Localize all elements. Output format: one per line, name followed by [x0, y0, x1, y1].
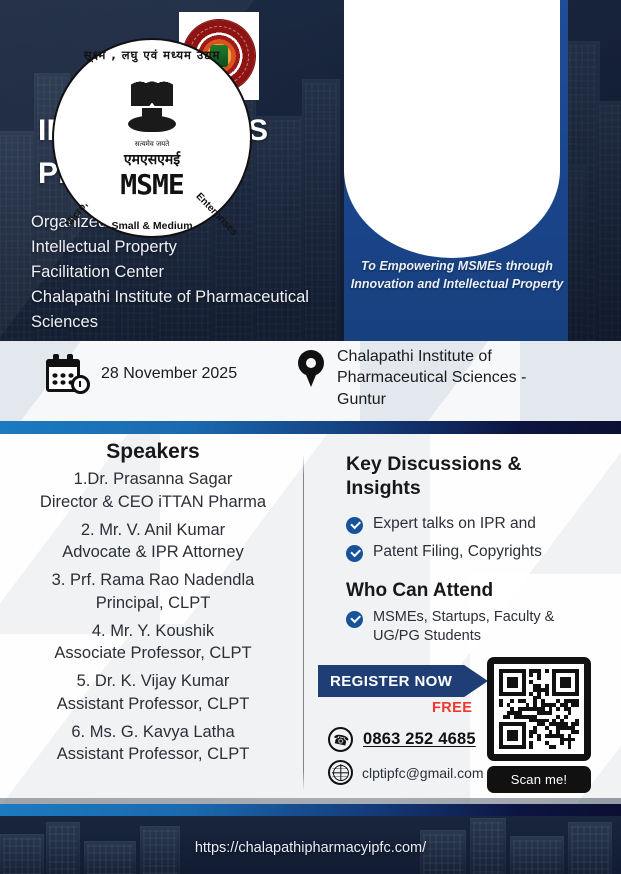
speaker-name: 3. Prf. Rama Rao Nadendla — [8, 569, 298, 592]
list-item: Patent Filing, Copyrights — [346, 542, 596, 562]
location-pin-icon — [296, 350, 326, 390]
speaker-name: 5. Dr. K. Vijay Kumar — [8, 670, 298, 693]
who-can-attend-heading: Who Can Attend — [346, 580, 576, 602]
section-divider-top — [0, 421, 621, 434]
footer-banner: https://chalapathipharmacyipfc.com/ — [0, 816, 621, 874]
speaker-item: 3. Prf. Rama Rao Nadendla Principal, CLP… — [8, 569, 298, 615]
speaker-item: 1.Dr. Prasanna Sagar Director & CEO iTTA… — [8, 468, 298, 514]
phone-icon: ☎ — [328, 727, 353, 752]
msme-tagline: To Empowering MSMEs through Innovation a… — [348, 258, 566, 294]
website-url[interactable]: https://chalapathipharmacyipfc.com/ — [0, 840, 621, 856]
msme-logo: सूक्ष्म , लघु एवं मध्यम उद्यम सत्यमेव जय… — [52, 38, 252, 238]
speaker-item: 6. Ms. G. Kavya Latha Assistant Professo… — [8, 721, 298, 767]
msme-hindi-top: सूक्ष्म , लघु एवं मध्यम उद्यम — [54, 48, 250, 63]
check-circle-icon — [346, 611, 363, 628]
list-item: MSMEs, Startups, Faculty & UG/PG Student… — [346, 608, 586, 646]
speaker-role: Assistant Professor, CLPT — [8, 693, 298, 716]
event-date: 28 November 2025 — [101, 363, 237, 384]
phone-number[interactable]: 0863 252 4685 — [363, 730, 476, 749]
globe-icon — [328, 760, 353, 785]
event-location-row: Chalapathi Institute of Pharmaceutical S… — [296, 346, 567, 410]
list-item-label: Expert talks on IPR and — [373, 514, 536, 534]
speaker-role: Director & CEO iTTAN Pharma — [8, 491, 298, 514]
qr-code[interactable] — [487, 657, 591, 761]
ashoka-emblem-icon — [125, 80, 179, 136]
phone-contact[interactable]: ☎ 0863 252 4685 — [328, 727, 476, 752]
speaker-role: Assistant Professor, CLPT — [8, 743, 298, 766]
calendar-clock-icon — [46, 354, 90, 394]
list-item: Expert talks on IPR and — [346, 514, 596, 534]
column-divider — [303, 455, 304, 791]
check-circle-icon — [346, 517, 363, 534]
speaker-item: 4. Mr. Y. Koushik Associate Professor, C… — [8, 620, 298, 666]
speaker-name: 6. Ms. G. Kavya Latha — [8, 721, 298, 744]
msme-wordmark: MSME — [54, 168, 250, 201]
speaker-name: 1.Dr. Prasanna Sagar — [8, 468, 298, 491]
speaker-item: 2. Mr. V. Anil Kumar Advocate & IPR Atto… — [8, 519, 298, 565]
event-location: Chalapathi Institute of Pharmaceutical S… — [337, 346, 567, 410]
satyamev-text: सत्यमेव जयते — [54, 140, 250, 149]
key-discussions-list: Expert talks on IPR and Patent Filing, C… — [346, 514, 596, 570]
speaker-name: 2. Mr. V. Anil Kumar — [8, 519, 298, 542]
check-circle-icon — [346, 545, 363, 562]
free-badge: FREE — [432, 700, 472, 716]
section-divider-bottom — [0, 804, 621, 816]
header-banner: IP AWARENESS PROGRAMME Organized By Inte… — [0, 0, 621, 341]
scan-me-label: Scan me! — [487, 766, 591, 793]
qr-code-pattern — [499, 669, 579, 749]
msme-hindi-acronym: एमएसएमई — [54, 150, 250, 169]
key-discussions-heading: Key Discussions & Insights — [346, 452, 576, 500]
list-item-label: MSMEs, Startups, Faculty & UG/PG Student… — [373, 608, 586, 646]
speaker-role: Associate Professor, CLPT — [8, 642, 298, 665]
speaker-name: 4. Mr. Y. Koushik — [8, 620, 298, 643]
speakers-heading: Speakers — [8, 440, 298, 464]
who-can-attend-list: MSMEs, Startups, Faculty & UG/PG Student… — [346, 608, 586, 654]
event-date-row: 28 November 2025 — [46, 354, 237, 394]
msme-white-shape — [344, 0, 560, 258]
list-item-label: Patent Filing, Copyrights — [373, 542, 542, 562]
msme-arc-bottom: Small & Medium — [54, 220, 250, 232]
register-now-button[interactable]: REGISTER NOW — [318, 665, 488, 697]
speaker-item: 5. Dr. K. Vijay Kumar Assistant Professo… — [8, 670, 298, 716]
speakers-section: Speakers 1.Dr. Prasanna Sagar Director &… — [8, 440, 298, 771]
speaker-role: Advocate & IPR Attorney — [8, 541, 298, 564]
email-address[interactable]: clptipfc@gmail.com — [362, 765, 484, 781]
speaker-role: Principal, CLPT — [8, 592, 298, 615]
poster-root: IP AWARENESS PROGRAMME Organized By Inte… — [0, 0, 621, 874]
register-now-label: REGISTER NOW — [318, 673, 452, 690]
email-contact[interactable]: clptipfc@gmail.com — [328, 760, 484, 785]
